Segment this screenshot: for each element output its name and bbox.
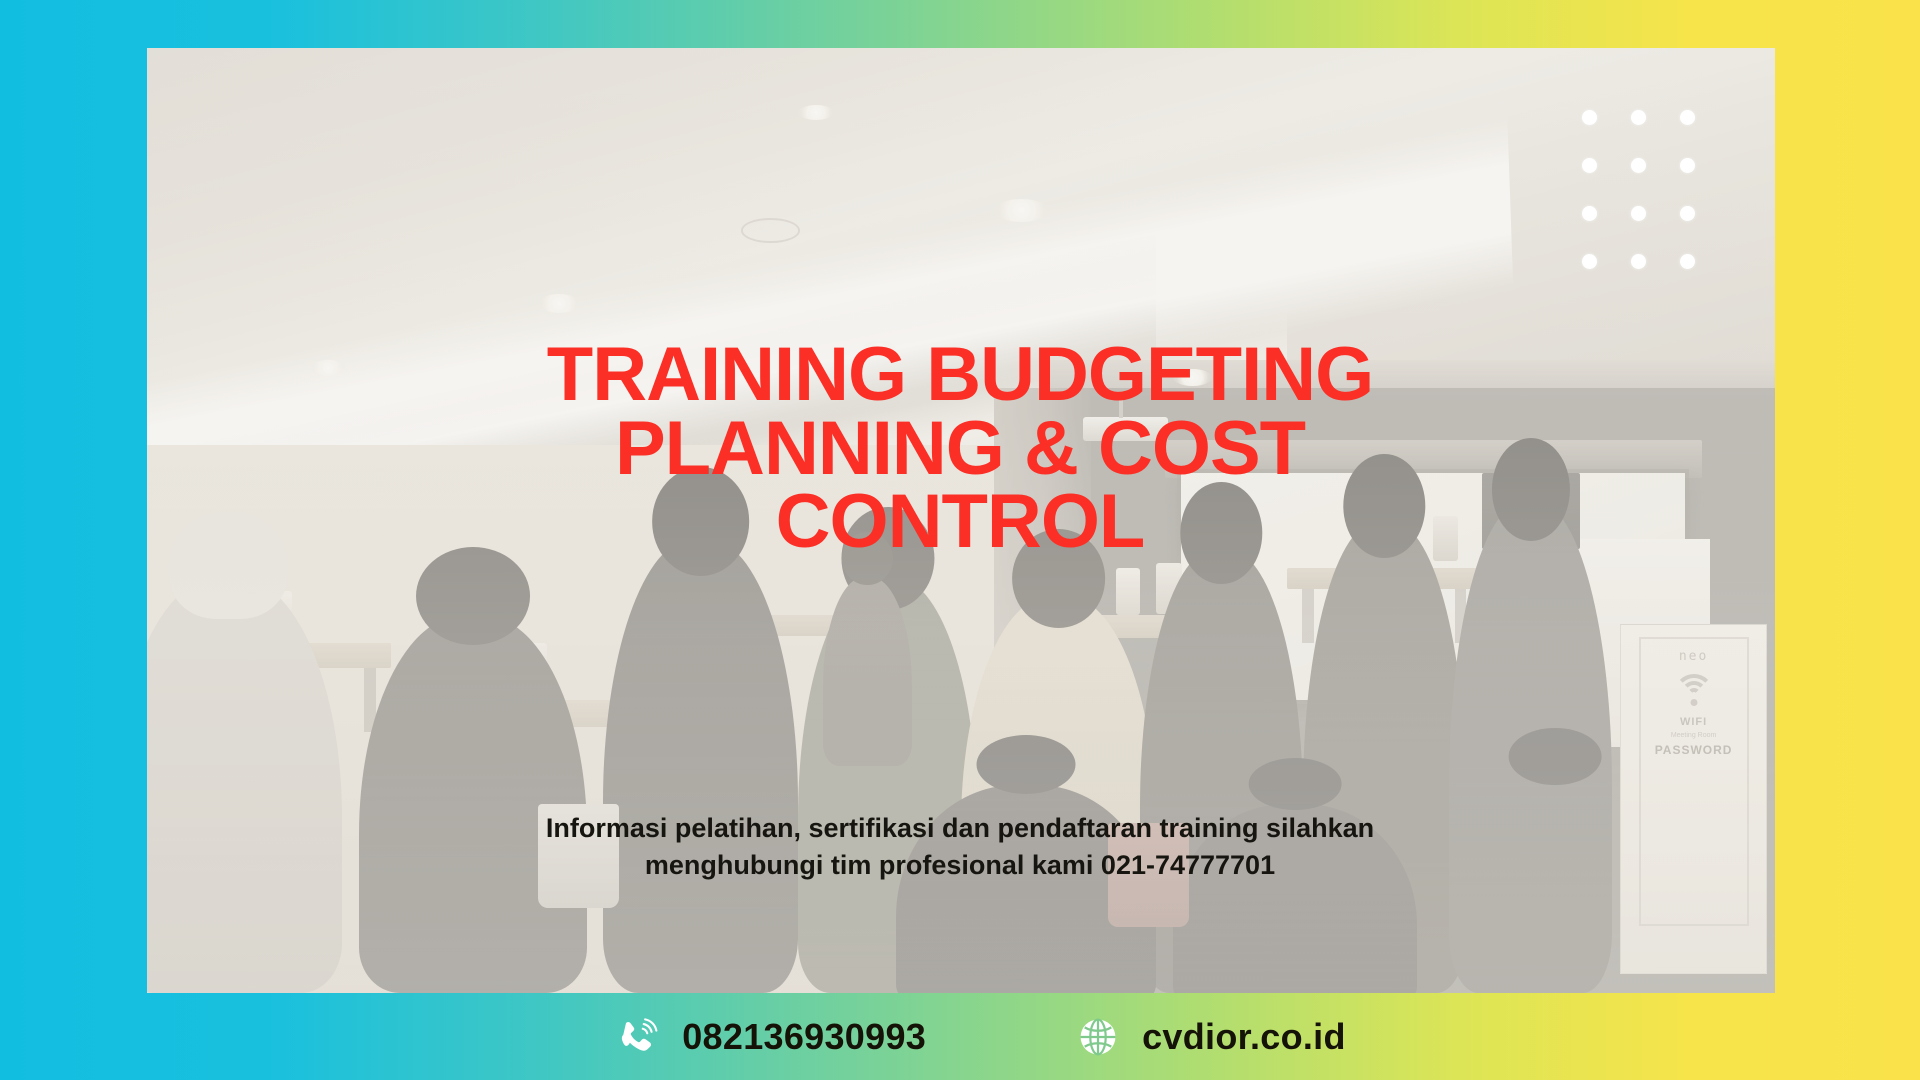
grid-dot: [1631, 110, 1646, 125]
grid-dot: [1582, 158, 1597, 173]
phone-number: 082136930993: [682, 1016, 926, 1058]
grid-dot: [1582, 206, 1597, 221]
headline-line-2: PLANNING & COST: [180, 412, 1740, 486]
grid-dot: [1631, 158, 1646, 173]
grid-dot: [1680, 110, 1695, 125]
headline-line-1: TRAINING BUDGETING: [180, 338, 1740, 412]
contact-footer: 082136930993 cvdior.co.id: [0, 993, 1920, 1080]
grid-dot: [1680, 254, 1695, 269]
grid-dot: [1631, 254, 1646, 269]
website-url: cvdior.co.id: [1142, 1016, 1346, 1058]
grid-dot: [1680, 206, 1695, 221]
contact-website[interactable]: cvdior.co.id: [1076, 1015, 1346, 1059]
subcopy-line-2: menghubungi tim profesional kami 021-747…: [330, 847, 1590, 884]
grid-dot: [1631, 206, 1646, 221]
poster-subcopy: Informasi pelatihan, sertifikasi dan pen…: [0, 810, 1920, 885]
subcopy-line-1: Informasi pelatihan, sertifikasi dan pen…: [330, 810, 1590, 847]
phone-icon: [614, 1014, 660, 1060]
dot-grid-decoration: [1582, 110, 1695, 269]
globe-icon: [1076, 1015, 1120, 1059]
grid-dot: [1680, 158, 1695, 173]
headline-line-3: CONTROL: [180, 485, 1740, 559]
contact-phone[interactable]: 082136930993: [614, 1014, 926, 1060]
grid-dot: [1582, 254, 1597, 269]
poster-headline: TRAINING BUDGETING PLANNING & COST CONTR…: [0, 338, 1920, 559]
grid-dot: [1582, 110, 1597, 125]
